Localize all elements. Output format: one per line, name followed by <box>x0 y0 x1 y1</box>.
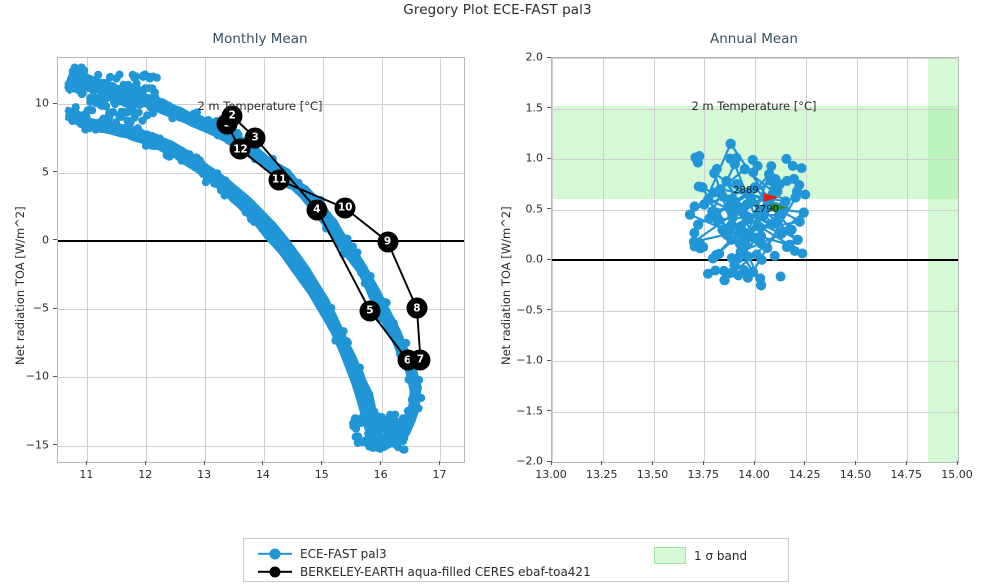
data-layer <box>58 58 464 462</box>
monthly-model-point <box>379 424 387 432</box>
annual-model-point <box>755 273 765 283</box>
monthly-model-point <box>410 409 418 417</box>
annual-model-point <box>725 139 735 149</box>
x-tickmark <box>652 461 653 465</box>
annual-reference-label-2790: 2790 <box>753 204 778 215</box>
annual-model-point <box>739 265 749 275</box>
monthly-model-point <box>390 329 398 337</box>
monthly-model-point <box>143 130 151 138</box>
legend-item-reference[interactable]: BERKELEY-EARTH aqua-filled CERES ebaf-to… <box>258 565 591 579</box>
annual-model-point <box>792 235 802 245</box>
annual-model-point <box>726 206 736 216</box>
monthly-model-inner-strand <box>179 155 370 433</box>
data-layer <box>552 58 958 462</box>
y-tick-label: 2.0 <box>526 51 544 64</box>
x-tick-label: 14.75 <box>891 468 923 481</box>
monthly-model-point <box>168 114 176 122</box>
monthly-mean-plot-area[interactable]: 123456789101112 <box>57 57 465 463</box>
annual-mean-title: Annual Mean <box>551 31 957 47</box>
monthly-model-point <box>208 175 216 183</box>
gridline-y <box>552 462 958 463</box>
month-marker-8[interactable]: 8 <box>406 298 427 319</box>
monthly-model-point <box>176 112 184 120</box>
monthly-model-point <box>133 79 141 87</box>
monthly-model-point <box>331 336 339 344</box>
annual-model-point <box>797 248 807 258</box>
monthly-model-point <box>356 363 364 371</box>
x-tick-label: 16 <box>374 468 388 481</box>
monthly-model-point <box>68 72 76 80</box>
annual-model-point <box>786 225 796 235</box>
x-tickmark <box>906 461 907 465</box>
monthly-model-point <box>265 223 273 231</box>
gregory-plot-figure: Gregory Plot ECE-FAST pal3 Monthly Mean … <box>0 0 995 586</box>
monthly-model-point <box>352 251 360 259</box>
x-tick-label: 13.25 <box>586 468 618 481</box>
y-tick-label: −0.5 <box>516 303 543 316</box>
monthly-model-point <box>205 125 213 133</box>
monthly-model-point <box>358 415 366 423</box>
monthly-model-point <box>366 282 374 290</box>
monthly-model-point <box>266 162 274 170</box>
annual-model-point <box>690 152 700 162</box>
monthly-model-point <box>115 91 123 99</box>
y-tickmark <box>547 309 551 310</box>
y-tickmark <box>53 171 57 172</box>
x-tick-label: 13 <box>197 468 211 481</box>
annual-model-point <box>694 181 704 191</box>
x-tickmark <box>551 461 552 465</box>
x-tick-label: 14.25 <box>789 468 821 481</box>
y-tick-label: 0 <box>42 233 49 246</box>
x-tick-label: 17 <box>432 468 446 481</box>
monthly-model-point <box>185 150 193 158</box>
x-tickmark <box>601 461 602 465</box>
y-tick-label: 1.5 <box>526 101 544 114</box>
annual-model-point <box>727 253 737 263</box>
annual-model-point <box>708 254 718 264</box>
monthly-model-point <box>172 147 180 155</box>
annual-model-point <box>690 242 700 252</box>
month-marker-5[interactable]: 5 <box>359 300 380 321</box>
annual-reference-label-2889: 2889 <box>733 185 758 196</box>
monthly-model-point <box>68 117 76 125</box>
monthly-model-point <box>353 262 361 270</box>
monthly-model-point <box>387 437 395 445</box>
annual-model-point <box>782 242 792 252</box>
y-tickmark <box>53 239 57 240</box>
y-tick-label: 1.0 <box>526 152 544 165</box>
y-tickmark <box>53 444 57 445</box>
legend-label: ECE-FAST pal3 <box>300 547 387 561</box>
monthly-model-point <box>351 414 359 422</box>
monthly-model-inner-strand <box>177 154 368 432</box>
x-tickmark <box>804 461 805 465</box>
month-marker-7[interactable]: 7 <box>410 349 431 370</box>
legend-label: BERKELEY-EARTH aqua-filled CERES ebaf-to… <box>300 565 591 579</box>
annual-model-point <box>776 272 786 282</box>
x-tickmark <box>204 461 205 465</box>
annual-model-point <box>725 154 735 164</box>
annual-model-point <box>720 226 730 236</box>
monthly-model-point <box>199 170 207 178</box>
x-tick-label: 13.50 <box>637 468 669 481</box>
monthly-model-point <box>361 400 369 408</box>
monthly-model-point <box>139 73 147 81</box>
annual-model-point <box>794 216 804 226</box>
y-tickmark <box>547 158 551 159</box>
annual-model-point <box>725 268 735 278</box>
annual-model-point <box>766 161 776 171</box>
monthly-model-inner-strand <box>179 152 370 430</box>
y-tick-label: 0.0 <box>526 253 544 266</box>
annual-model-point <box>735 238 745 248</box>
annual-model-point <box>799 207 809 217</box>
x-tick-label: 13.75 <box>688 468 720 481</box>
monthly-model-point <box>177 157 185 165</box>
gridline-x <box>958 58 959 462</box>
x-tickmark <box>321 461 322 465</box>
monthly-model-inner-strand <box>184 154 375 433</box>
annual-mean-plot-area[interactable]: 28892790 <box>551 57 959 463</box>
monthly-model-point <box>369 435 377 443</box>
monthly-model-point <box>327 304 335 312</box>
x-tick-label: 15 <box>315 468 329 481</box>
x-tick-label: 14 <box>256 468 270 481</box>
y-tick-label: −1.5 <box>516 404 543 417</box>
x-tick-label: 11 <box>79 468 93 481</box>
monthly-model-point <box>221 176 229 184</box>
monthly-model-point <box>408 395 416 403</box>
y-tickmark <box>53 308 57 309</box>
monthly-model-point <box>94 71 102 79</box>
monthly-model-point <box>417 394 425 402</box>
annual-model-point <box>703 269 713 279</box>
x-tick-label: 14.50 <box>840 468 872 481</box>
annual-model-point <box>770 251 780 261</box>
annual-model-point <box>797 163 807 173</box>
monthly-mean-ylabel: Net radiation TOA [W/m^2] <box>13 206 27 365</box>
y-tickmark <box>53 376 57 377</box>
monthly-model-point <box>156 136 164 144</box>
month-marker-11[interactable]: 11 <box>269 170 290 191</box>
annual-model-point <box>788 161 798 171</box>
annual-model-point <box>689 228 699 238</box>
monthly-model-point <box>407 372 415 380</box>
monthly-model-point <box>83 119 91 127</box>
monthly-model-point <box>271 237 279 245</box>
legend-label: 1 σ band <box>694 549 747 563</box>
y-tick-label: −10 <box>26 370 49 383</box>
legend-item-model[interactable]: ECE-FAST pal3 <box>258 547 387 561</box>
monthly-model-point <box>376 413 384 421</box>
monthly-model-point <box>381 298 389 306</box>
annual-model-point <box>690 201 700 211</box>
figure-legend: ECE-FAST pal3BERKELEY-EARTH aqua-filled … <box>243 538 789 582</box>
annual-model-point <box>748 155 758 165</box>
x-tick-label: 13.00 <box>535 468 567 481</box>
monthly-model-point <box>227 186 235 194</box>
y-tickmark <box>547 107 551 108</box>
annual-model-point <box>737 227 747 237</box>
monthly-model-point <box>244 208 252 216</box>
monthly-model-point <box>132 72 140 80</box>
monthly-model-point <box>354 432 362 440</box>
annual-model-point <box>713 216 723 226</box>
monthly-model-point <box>83 74 91 82</box>
monthly-model-point <box>399 414 407 422</box>
monthly-model-point <box>106 83 114 91</box>
monthly-model-inner-strand <box>182 154 373 432</box>
legend-item-sigma-band[interactable]: 1 σ band <box>654 547 747 564</box>
monthly-mean-title: Monthly Mean <box>57 31 463 47</box>
monthly-model-point <box>341 338 349 346</box>
monthly-model-point <box>247 215 255 223</box>
monthly-model-point <box>118 127 126 135</box>
y-tick-label: −15 <box>26 438 49 451</box>
annual-model-point <box>698 242 708 252</box>
y-tick-label: 10 <box>35 97 49 110</box>
monthly-model-point <box>237 199 245 207</box>
annual-model-point <box>754 221 764 231</box>
y-tick-label: −2.0 <box>516 455 543 468</box>
y-tick-label: 5 <box>42 165 49 178</box>
y-tickmark <box>547 410 551 411</box>
y-tickmark <box>547 57 551 58</box>
annual-model-point <box>709 187 719 197</box>
annual-model-point <box>794 180 804 190</box>
monthly-model-point <box>366 272 374 280</box>
monthly-model-point <box>93 84 101 92</box>
monthly-model-point <box>402 339 410 347</box>
x-tickmark <box>855 461 856 465</box>
y-tickmark <box>547 208 551 209</box>
monthly-model-point <box>373 444 381 452</box>
monthly-model-point <box>305 277 313 285</box>
annual-model-point <box>743 252 753 262</box>
monthly-model-point <box>217 186 225 194</box>
x-tickmark <box>380 461 381 465</box>
y-tick-label: −5 <box>33 302 49 315</box>
month-marker-10[interactable]: 10 <box>335 198 356 219</box>
monthly-model-point <box>390 319 398 327</box>
month-marker-9[interactable]: 9 <box>377 231 398 252</box>
monthly-model-point <box>399 436 407 444</box>
monthly-mean-panel: Monthly Mean 123456789101112 Net radiati… <box>57 57 463 461</box>
monthly-model-point <box>192 153 200 161</box>
x-tickmark <box>703 461 704 465</box>
annual-model-point <box>769 184 779 194</box>
annual-model-point <box>756 231 766 241</box>
monthly-model-point <box>119 81 127 89</box>
y-tick-label: 0.5 <box>526 202 544 215</box>
monthly-model-point <box>141 84 149 92</box>
monthly-model-point <box>393 424 401 432</box>
y-tickmark <box>547 259 551 260</box>
x-tickmark <box>86 461 87 465</box>
annual-model-point <box>757 255 767 265</box>
monthly-model-point <box>134 88 142 96</box>
annual-model-point <box>748 168 758 178</box>
month-marker-4[interactable]: 4 <box>306 199 327 220</box>
monthly-model-point <box>415 376 423 384</box>
monthly-model-point <box>134 124 142 132</box>
monthly-model-point <box>310 288 318 296</box>
annual-model-point <box>778 227 788 237</box>
monthly-model-point <box>106 73 114 81</box>
figure-title: Gregory Plot ECE-FAST pal3 <box>0 2 995 18</box>
y-tickmark <box>53 103 57 104</box>
annual-model-point <box>712 164 722 174</box>
monthly-model-point <box>343 235 351 243</box>
annual-mean-ylabel: Net radiation TOA [W/m^2] <box>499 206 513 365</box>
monthly-model-point <box>97 117 105 125</box>
monthly-model-point <box>93 125 101 133</box>
x-tickmark <box>145 461 146 465</box>
x-tick-label: 12 <box>138 468 152 481</box>
month-marker-12[interactable]: 12 <box>230 139 251 160</box>
x-tickmark <box>262 461 263 465</box>
monthly-model-inner-strand <box>182 154 373 432</box>
y-tick-label: −1.0 <box>516 354 543 367</box>
x-tickmark <box>957 461 958 465</box>
monthly-model-point <box>332 319 340 327</box>
monthly-model-inner-strand <box>185 152 376 431</box>
monthly-model-point <box>401 424 409 432</box>
monthly-mean-xlabel: 2 m Temperature [°C] <box>57 99 463 113</box>
annual-mean-panel: Annual Mean 28892790 Net radiation TOA [… <box>551 57 957 461</box>
x-tickmark <box>754 461 755 465</box>
legend-band-swatch <box>654 547 686 564</box>
monthly-model-point <box>74 86 82 94</box>
x-tickmark <box>439 461 440 465</box>
y-tickmark <box>547 360 551 361</box>
monthly-model-point <box>316 299 324 307</box>
monthly-model-point <box>126 118 134 126</box>
annual-mean-xlabel: 2 m Temperature [°C] <box>551 99 957 113</box>
x-tick-label: 15.00 <box>941 468 973 481</box>
annual-model-point <box>772 217 782 227</box>
monthly-model-point <box>383 313 391 321</box>
x-tick-label: 14.00 <box>738 468 770 481</box>
